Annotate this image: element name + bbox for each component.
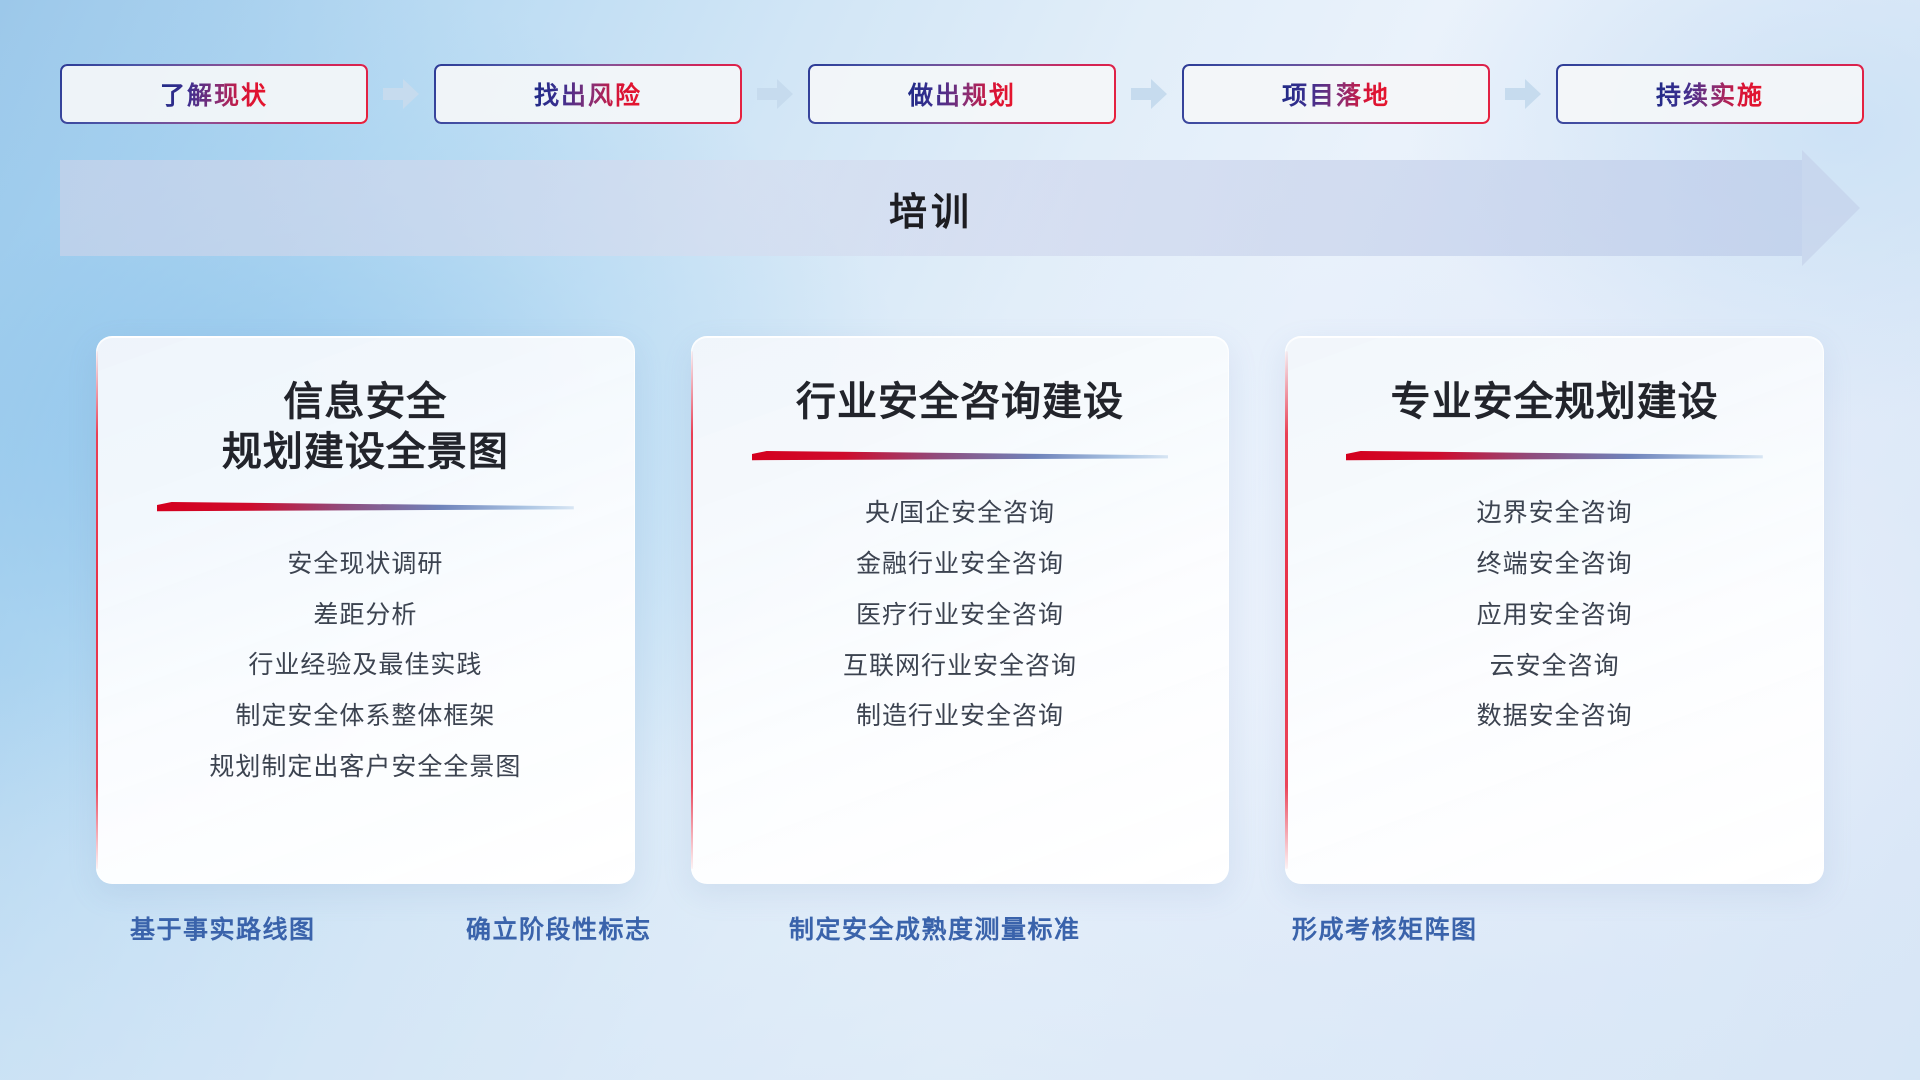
step-label-3: 做出规划 [908,76,1016,112]
card-divider-2 [752,451,1169,464]
service-card-1[interactable]: 信息安全 规划建设全景图 安全现状调研 差 [96,336,635,884]
card-divider-3 [1346,451,1763,464]
list-item: 央/国企安全咨询 [865,494,1055,533]
step-box-2[interactable]: 找出风险 [434,64,742,124]
step-label-2: 找出风险 [534,76,642,112]
step-label-4: 项目落地 [1282,76,1390,112]
step-label-1: 了解现状 [160,76,268,112]
card-accent-bar [691,351,693,869]
list-item: 差距分析 [313,596,417,635]
step-arrow-4 [1490,64,1556,124]
list-item: 终端安全咨询 [1477,545,1633,584]
card-list-3: 边界安全咨询 终端安全咨询 应用安全咨询 云安全咨询 数据安全咨询 [1312,494,1797,736]
card-accent-bar [96,351,98,869]
step-box-3[interactable]: 做出规划 [808,64,1116,124]
list-item: 数据安全咨询 [1477,697,1633,736]
card-title-2: 行业安全咨询建设 [796,377,1124,427]
step-arrow-3 [1116,64,1182,124]
list-item: 云安全咨询 [1490,647,1620,686]
card-list-2: 央/国企安全咨询 金融行业安全咨询 医疗行业安全咨询 互联网行业安全咨询 制造行… [718,494,1203,736]
footer-labels: 基于事实路线图 确立阶段性标志 制定安全成熟度测量标准 形成考核矩阵图 [0,910,1920,960]
step-box-1[interactable]: 了解现状 [60,64,368,124]
footer-label-4: 形成考核矩阵图 [1292,910,1478,946]
step-box-5[interactable]: 持续实施 [1556,64,1864,124]
step-arrow-2 [742,64,808,124]
list-item: 金融行业安全咨询 [856,545,1064,584]
banner-title: 培训 [60,160,1860,256]
card-list-1: 安全现状调研 差距分析 行业经验及最佳实践 制定安全体系整体框架 规划制定出客户… [123,545,608,787]
service-card-3[interactable]: 专业安全规划建设 边界安全咨询 终端安全咨询 [1285,336,1824,884]
card-title-1: 信息安全 规划建设全景图 [222,377,509,478]
list-item: 应用安全咨询 [1477,596,1633,635]
step-arrow-1 [368,64,434,124]
list-item: 安全现状调研 [287,545,443,584]
list-item: 规划制定出客户安全全景图 [209,748,521,787]
card-accent-bar [1285,351,1287,869]
list-item: 行业经验及最佳实践 [248,646,482,685]
card-title-line: 信息安全 [222,377,509,427]
step-label-5: 持续实施 [1656,76,1764,112]
footer-label-2: 确立阶段性标志 [466,910,652,946]
card-divider-1 [157,502,574,515]
list-item: 制造行业安全咨询 [856,697,1064,736]
footer-label-3: 制定安全成熟度测量标准 [789,910,1081,946]
card-title-line: 规划建设全景图 [222,427,509,477]
service-cards: 信息安全 规划建设全景图 安全现状调研 差 [96,336,1824,884]
card-title-line: 专业安全规划建设 [1391,377,1719,427]
list-item: 制定安全体系整体框架 [235,697,495,736]
training-banner: 培训 [60,160,1860,256]
list-item: 边界安全咨询 [1477,494,1633,533]
process-steps: 了解现状 找出风险 做出规划 项目落地 持续实施 [60,64,1860,124]
card-title-3: 专业安全规划建设 [1391,377,1719,427]
card-title-line: 行业安全咨询建设 [796,377,1124,427]
step-box-4[interactable]: 项目落地 [1182,64,1490,124]
list-item: 互联网行业安全咨询 [843,647,1077,686]
list-item: 医疗行业安全咨询 [856,596,1064,635]
footer-label-1: 基于事实路线图 [130,910,316,946]
service-card-2[interactable]: 行业安全咨询建设 央/国企安全咨询 金融行业安全咨询 [691,336,1230,884]
